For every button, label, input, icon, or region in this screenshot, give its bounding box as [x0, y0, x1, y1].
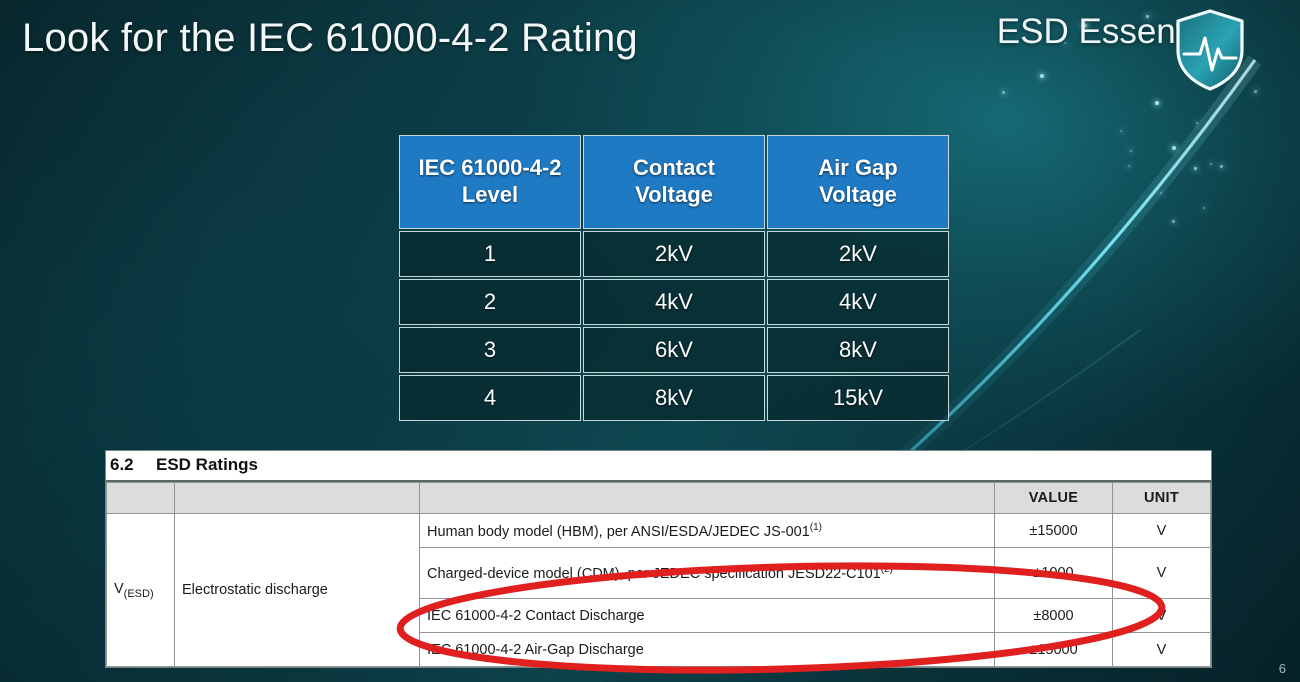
column-header-contact-line1: Contact [633, 155, 715, 180]
footnote-marker: (1) [810, 522, 822, 533]
cell-contact: 6kV [583, 327, 765, 373]
column-header-level-line2: Level [462, 182, 518, 207]
cell-airgap: 8kV [767, 327, 949, 373]
table-row: 2 4kV 4kV [399, 279, 949, 325]
datasheet-excerpt: 6.2ESD Ratings VALUE UNIT V(ESD) [105, 450, 1212, 668]
column-header-airgap-voltage: Air Gap Voltage [767, 135, 949, 229]
symbol-subscript: (ESD) [124, 587, 154, 599]
column-header-description [420, 483, 995, 514]
cell-airgap: 2kV [767, 231, 949, 277]
cell-value: ±15000 [995, 514, 1113, 548]
cell-value: ±8000 [995, 599, 1113, 633]
column-header-level: IEC 61000-4-2 Level [399, 135, 581, 229]
datasheet-section-heading: 6.2ESD Ratings [106, 451, 1211, 482]
footnote-marker: (2) [881, 564, 893, 575]
table-header-row: IEC 61000-4-2 Level Contact Voltage Air … [399, 135, 949, 229]
slide-canvas: Look for the IEC 61000-4-2 Rating ESD Es… [0, 0, 1300, 682]
cell-unit: V [1113, 599, 1211, 633]
column-header-unit: UNIT [1113, 483, 1211, 514]
cell-level: 3 [399, 327, 581, 373]
cell-airgap: 4kV [767, 279, 949, 325]
cell-unit: V [1113, 548, 1211, 599]
page-number: 6 [1279, 661, 1286, 676]
cell-description: Charged-device model (CDM), per JEDEC sp… [420, 548, 995, 599]
cell-level: 1 [399, 231, 581, 277]
cell-level: 2 [399, 279, 581, 325]
column-header-level-line1: IEC 61000-4-2 [418, 155, 561, 180]
cell-description: IEC 61000-4-2 Contact Discharge [420, 599, 995, 633]
esd-ratings-table: VALUE UNIT V(ESD) Electrostatic discharg… [106, 482, 1211, 667]
cell-symbol-vesd: V(ESD) [107, 514, 175, 667]
table-row: 4 8kV 15kV [399, 375, 949, 421]
cell-unit: V [1113, 633, 1211, 667]
iec-level-table: IEC 61000-4-2 Level Contact Voltage Air … [397, 133, 951, 423]
column-header-value: VALUE [995, 483, 1113, 514]
cell-contact: 8kV [583, 375, 765, 421]
table-header-row: VALUE UNIT [107, 483, 1211, 514]
description-text: Human body model (HBM), per ANSI/ESDA/JE… [427, 523, 810, 539]
section-title: ESD Ratings [156, 455, 258, 474]
description-text: Charged-device model (CDM), per JEDEC sp… [427, 566, 881, 582]
cell-unit: V [1113, 514, 1211, 548]
cell-value: ±1000 [995, 548, 1113, 599]
column-header-contact-line2: Voltage [635, 182, 713, 207]
cell-airgap: 15kV [767, 375, 949, 421]
table-row: 3 6kV 8kV [399, 327, 949, 373]
cell-level: 4 [399, 375, 581, 421]
symbol-base: V [114, 581, 124, 597]
column-header-airgap-line1: Air Gap [818, 155, 897, 180]
shield-pulse-icon [1174, 8, 1246, 92]
cell-contact: 4kV [583, 279, 765, 325]
cell-contact: 2kV [583, 231, 765, 277]
brand-label: ESD Essentials [997, 12, 1238, 52]
section-number: 6.2 [110, 455, 156, 475]
column-header-airgap-line2: Voltage [819, 182, 897, 207]
cell-parameter-electrostatic-discharge: Electrostatic discharge [175, 514, 420, 667]
column-header-parameter [175, 483, 420, 514]
table-row: V(ESD) Electrostatic discharge Human bod… [107, 514, 1211, 548]
column-header-contact-voltage: Contact Voltage [583, 135, 765, 229]
slide-title: Look for the IEC 61000-4-2 Rating [22, 16, 638, 61]
cell-description: IEC 61000-4-2 Air-Gap Discharge [420, 633, 995, 667]
table-row: 1 2kV 2kV [399, 231, 949, 277]
cell-description: Human body model (HBM), per ANSI/ESDA/JE… [420, 514, 995, 548]
cell-value: ±15000 [995, 633, 1113, 667]
column-header-symbol [107, 483, 175, 514]
